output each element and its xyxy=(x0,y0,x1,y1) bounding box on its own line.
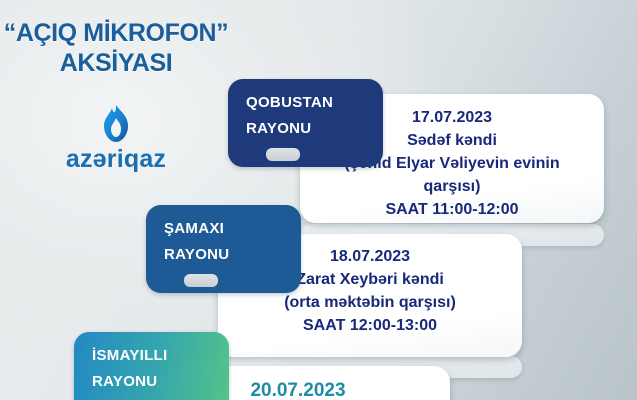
headline-line-1: “AÇIQ MİKROFON” xyxy=(0,18,232,48)
connector-nub xyxy=(266,148,300,161)
region-tab-line-1: QOBUSTAN xyxy=(246,90,383,116)
page-title: “AÇIQ MİKROFON” AKSİYASI xyxy=(0,18,232,78)
region-tab-line-1: ŞAMAXI xyxy=(164,216,301,242)
region-tab-line-2: RAYONU xyxy=(164,242,301,268)
region-tab-ismayilli[interactable]: İSMAYILLI RAYONU xyxy=(74,332,229,400)
region-tab-qobustan[interactable]: QOBUSTAN RAYONU xyxy=(228,79,383,167)
region-tab-line-2: RAYONU xyxy=(92,369,229,395)
flame-icon xyxy=(101,104,131,144)
brand-logo: azəriqaz xyxy=(0,104,232,174)
poster-canvas: “AÇIQ MİKROFON” AKSİYASI azəriqaz QOBUST… xyxy=(0,0,637,400)
region-tab-samaxi[interactable]: ŞAMAXI RAYONU xyxy=(146,205,301,293)
region-tab-line-2: RAYONU xyxy=(246,116,383,142)
headline-line-2: AKSİYASI xyxy=(0,48,232,78)
brand-name: azəriqaz xyxy=(0,145,232,174)
event-time: SAAT 12:00-13:00 xyxy=(218,314,522,337)
connector-nub xyxy=(184,274,218,287)
event-detail: (orta məktəbin qarşısı) xyxy=(218,291,522,314)
region-tab-line-1: İSMAYILLI xyxy=(92,343,229,369)
event-detail-cont: qarşısı) xyxy=(300,175,604,198)
event-time: SAAT 11:00-12:00 xyxy=(300,198,604,221)
